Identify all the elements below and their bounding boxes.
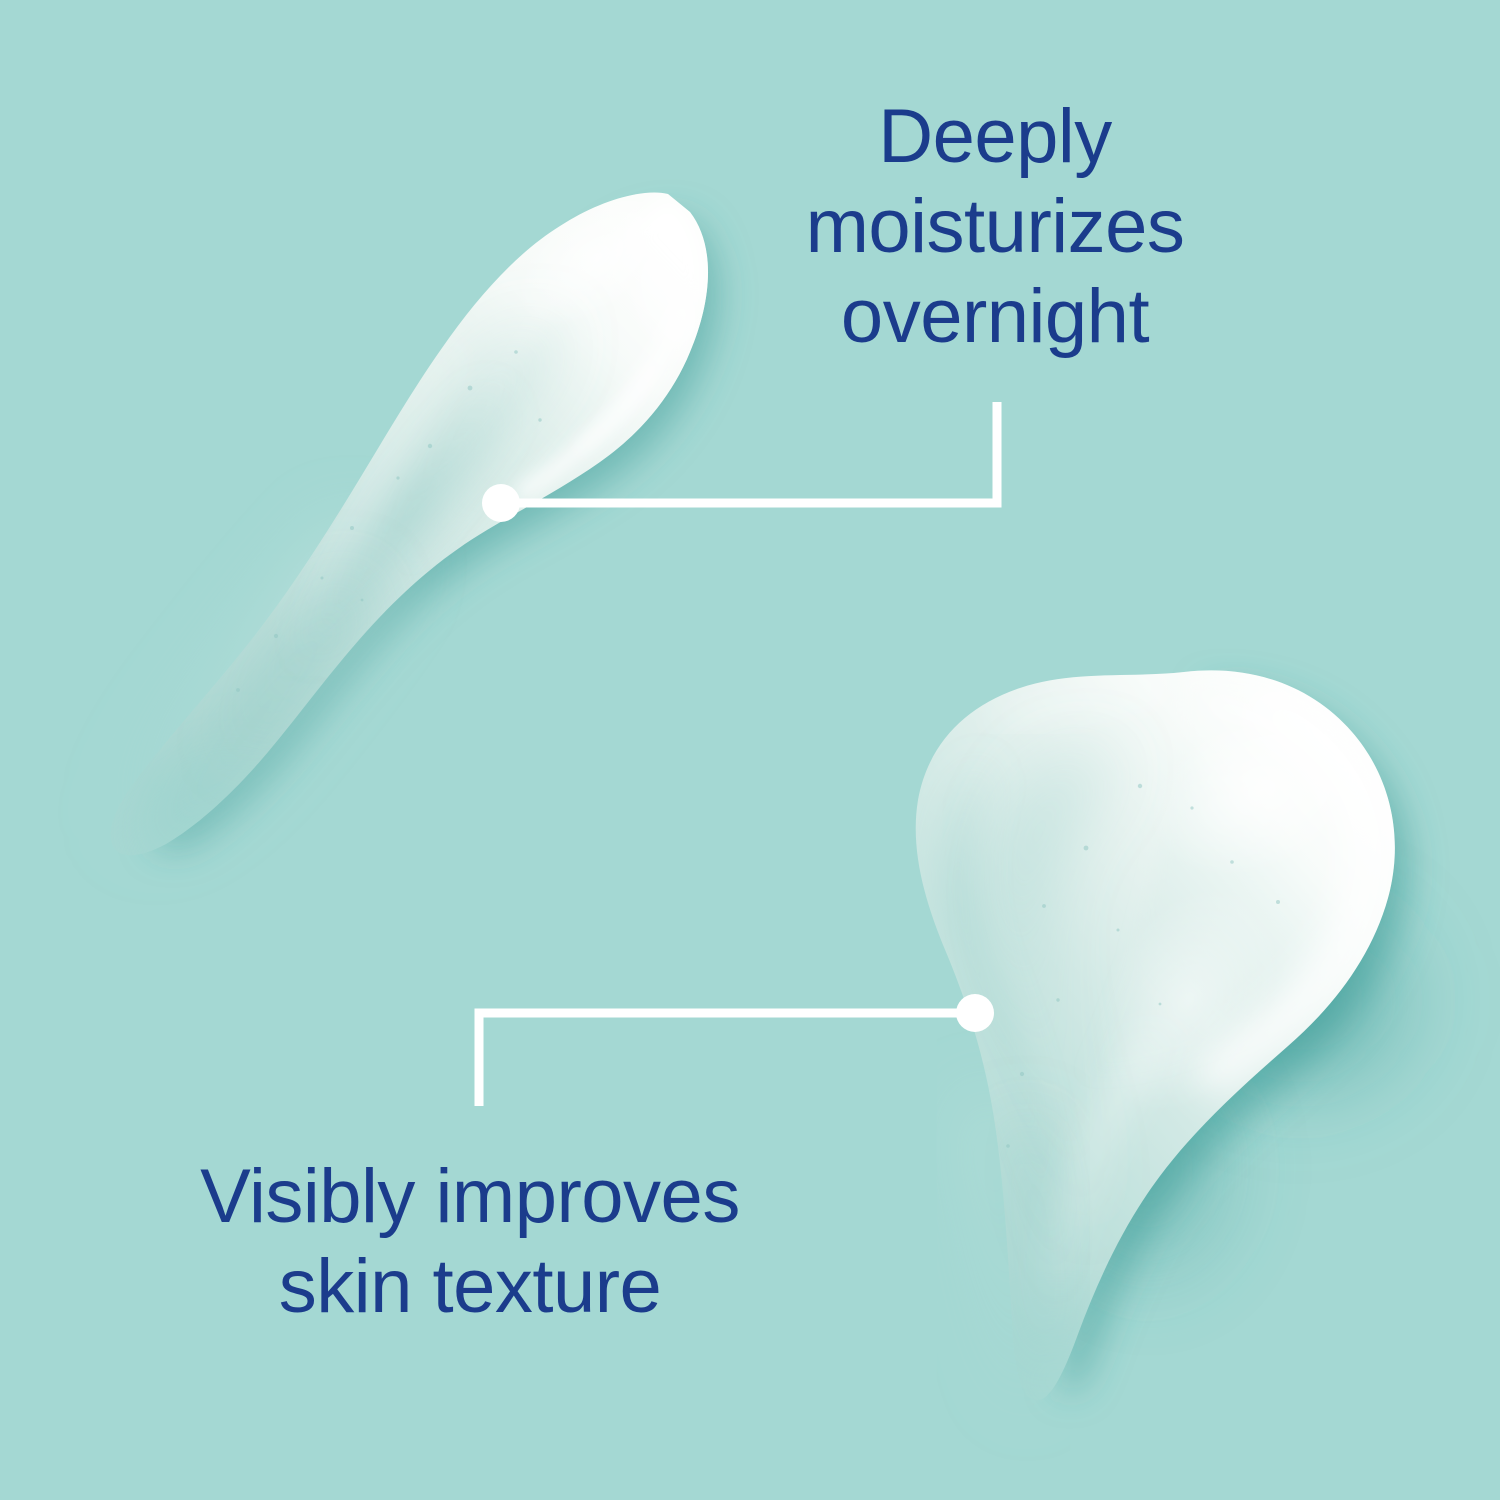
cream-swatch-bottom: [916, 669, 1450, 1430]
callout-label-visibly-improves-skin-texture: Visibly improves skin texture: [110, 1152, 830, 1332]
leader-line-bottom: [479, 1013, 975, 1106]
leader-dot-top: [482, 484, 520, 522]
callout-label-deeply-moisturizes-overnight: Deeply moisturizes overnight: [630, 92, 1360, 362]
product-benefit-graphic: Deeply moisturizes overnight Visibly imp…: [0, 0, 1500, 1500]
leader-dot-bottom: [956, 994, 994, 1032]
callout-leader-bottom: [479, 994, 994, 1106]
